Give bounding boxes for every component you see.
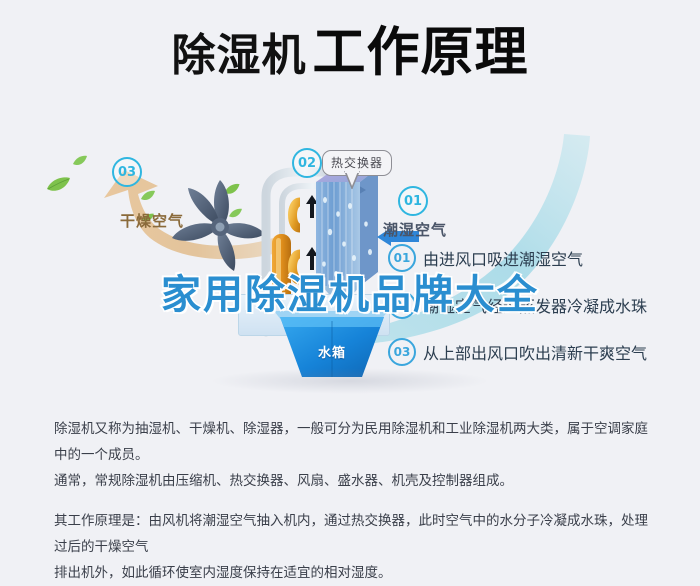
- paragraph-spacer: [54, 494, 654, 508]
- legend-item: 01 由进风口吸进潮湿空气: [388, 245, 688, 271]
- title-part-1: 除湿机: [172, 30, 307, 81]
- moist-air-label: 潮湿空气: [383, 219, 447, 240]
- leaf-icon: [140, 190, 156, 203]
- paragraph-2-line-2: 排出机外，如此循环使室内湿度保持在适宜的相对湿度。: [54, 560, 654, 586]
- legend-item: 03 从上部出风口吹出清新干爽空气: [388, 339, 688, 365]
- legend-item: 02 潮湿空气经过蒸发器冷凝成水珠: [388, 292, 688, 318]
- water-tank-label: 水箱: [318, 342, 346, 361]
- callout-pointer-icon: [344, 171, 360, 189]
- leaf-icon: [45, 176, 71, 194]
- moist-air-badge: 01: [398, 186, 428, 216]
- legend-label: 由进风口吸进潮湿空气: [423, 246, 583, 270]
- dry-air-badge: 03: [112, 157, 142, 187]
- paragraph-1-line-2: 通常，常规除湿机由压缩机、热交换器、风扇、盛水器、机壳及控制器组成。: [54, 468, 654, 494]
- paragraph-1-line-1: 除湿机又称为抽湿机、干燥机、除湿器，一般可分为民用除湿机和工业除湿机两大类，属于…: [54, 416, 654, 468]
- legend-number: 03: [388, 338, 416, 366]
- title-part-2: 工作原理: [313, 22, 529, 83]
- infographic-panel: 除湿机工作原理: [0, 0, 700, 400]
- heat-exchanger-badge: 02: [292, 148, 322, 178]
- legend-list: 01 由进风口吸进潮湿空气 02 潮湿空气经过蒸发器冷凝成水珠 03 从上部出风…: [388, 245, 688, 386]
- artwork-shadow: [210, 368, 490, 394]
- dry-air-label: 干燥空气: [120, 210, 184, 231]
- legend-label: 从上部出风口吹出清新干爽空气: [423, 340, 647, 364]
- legend-label: 潮湿空气经过蒸发器冷凝成水珠: [423, 293, 647, 317]
- article-body: 除湿机又称为抽湿机、干燥机、除湿器，一般可分为民用除湿机和工业除湿机两大类，属于…: [54, 416, 654, 586]
- legend-number: 02: [388, 291, 416, 319]
- legend-number: 01: [388, 244, 416, 272]
- paragraph-2-line-1: 其工作原理是：由风机将潮湿空气抽入机内，通过热交换器，此时空气中的水分子冷凝成水…: [54, 508, 654, 560]
- leaf-icon: [72, 155, 88, 168]
- page-title: 除湿机工作原理: [0, 26, 700, 79]
